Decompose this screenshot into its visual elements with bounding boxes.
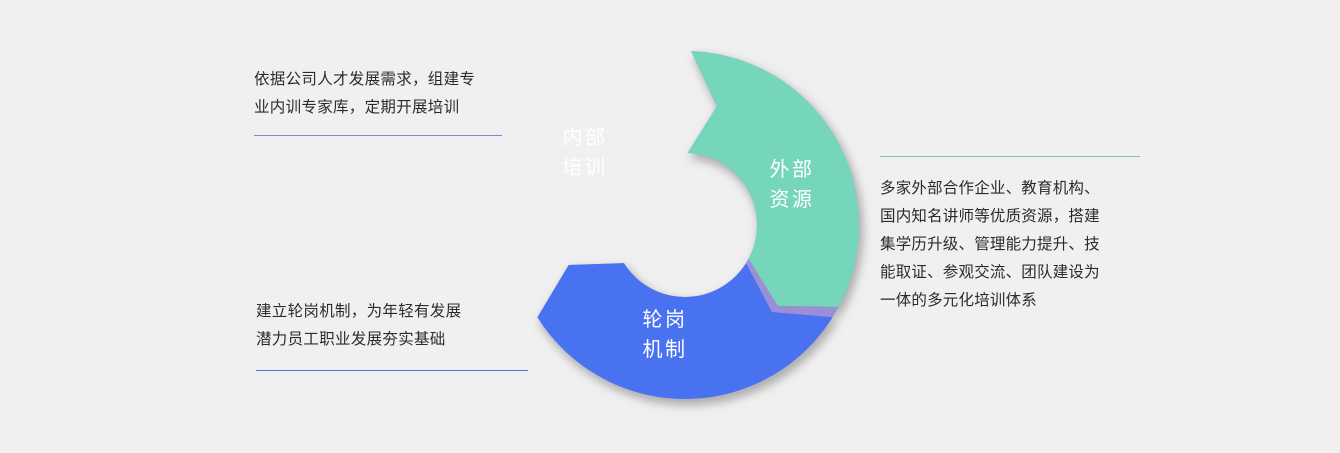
callout-internal-line-2: 业内训专家库，定期开展培训 <box>254 94 504 122</box>
donut-segments <box>537 51 859 399</box>
callout-internal-line-1: 依据公司人才发展需求，组建专 <box>254 66 504 94</box>
callout-external-rule <box>880 156 1140 157</box>
donut-svg <box>495 35 875 425</box>
donut-segment-external-resources[interactable] <box>688 51 859 307</box>
callout-rotation-mechanism: 建立轮岗机制，为年轻有发展 潜力员工职业发展夯实基础 <box>256 298 528 371</box>
callout-external-line-1: 多家外部合作企业、教育机构、 <box>880 175 1142 203</box>
callout-external-line-2: 国内知名讲师等优质资源，搭建 <box>880 203 1142 231</box>
callout-external-line-3: 集学历升级、管理能力提升、技 <box>880 231 1142 259</box>
callout-rotation-line-2: 潜力员工职业发展夯实基础 <box>256 326 528 354</box>
callout-rotation-rule <box>256 370 528 371</box>
callout-external-line-4: 能取证、参观交流、团队建设为 <box>880 259 1142 287</box>
diagram-canvas: 依据公司人才发展需求，组建专 业内训专家库，定期开展培训 建立轮岗机制，为年轻有… <box>0 0 1340 453</box>
callout-rotation-line-1: 建立轮岗机制，为年轻有发展 <box>256 298 528 326</box>
callout-external-resources: 多家外部合作企业、教育机构、 国内知名讲师等优质资源，搭建 集学历升级、管理能力… <box>880 156 1142 315</box>
callout-internal-rule <box>254 135 502 136</box>
callout-external-line-5: 一体的多元化培训体系 <box>880 287 1142 315</box>
cycle-donut-chart: 内部 培训 外部 资源 轮岗 机制 <box>495 35 875 425</box>
callout-internal-training: 依据公司人才发展需求，组建专 业内训专家库，定期开展培训 <box>254 66 504 136</box>
